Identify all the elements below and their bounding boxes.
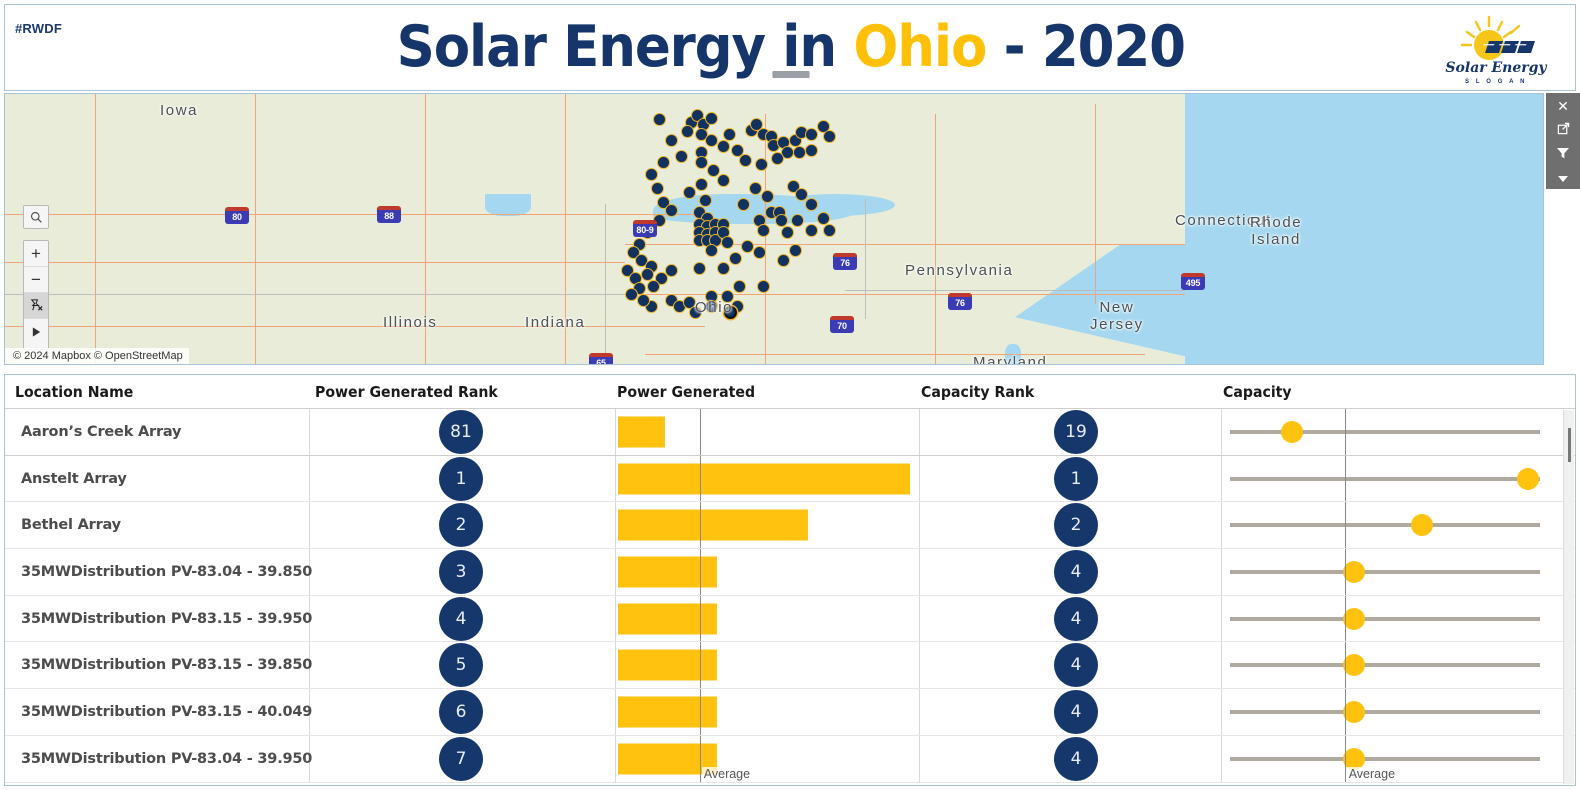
map-marker-dot[interactable] <box>753 246 766 259</box>
map-marker-dot[interactable] <box>657 156 670 169</box>
power-generated-average-line <box>700 596 702 642</box>
column-divider <box>615 502 616 548</box>
table-row[interactable]: 35MWDistribution PV-83.15 - 39.95044 <box>5 596 1575 643</box>
map-state-label: Ohio <box>695 299 733 316</box>
cell-location-name: 35MWDistribution PV-83.15 - 39.950 <box>21 611 312 627</box>
map-marker-dot[interactable] <box>805 198 818 211</box>
map-marker-dot[interactable] <box>771 152 784 165</box>
power-generated-average-line <box>700 456 702 502</box>
data-table[interactable]: Location NamePower Generated RankPower G… <box>4 374 1576 786</box>
cell-capacity-dot <box>1343 608 1365 630</box>
capacity-average-line <box>1345 502 1347 548</box>
road <box>1095 104 1096 304</box>
logo-name: Solar Energy <box>1431 60 1561 76</box>
map-marker-dot[interactable] <box>665 134 678 147</box>
map-marker-dot[interactable] <box>651 182 664 195</box>
road <box>5 326 705 327</box>
highway-shield: 80-9 <box>633 220 657 237</box>
map-state-label: RhodeIsland <box>1250 214 1302 248</box>
capacity-track-line <box>1230 663 1540 667</box>
table-row[interactable]: Anstelt Array11 <box>5 456 1575 503</box>
capacity-average-line <box>1345 456 1347 502</box>
cell-capacity-rank: 4 <box>1054 737 1098 781</box>
road <box>935 114 936 364</box>
lake-erie-east <box>775 194 895 216</box>
cell-power-generated-rank: 7 <box>439 737 483 781</box>
column-divider <box>615 456 616 502</box>
cell-power-generated-bar <box>618 603 717 634</box>
map-zoom-controls[interactable]: + − <box>23 240 49 350</box>
road <box>645 354 1145 355</box>
capacity-track-line <box>1230 757 1540 761</box>
column-header-capacity_rank[interactable]: Capacity Rank <box>921 383 1034 401</box>
map-marker-dot[interactable] <box>665 204 678 217</box>
map-state-label: NewJersey <box>1090 299 1144 333</box>
power-generated-average-line <box>700 502 702 548</box>
cell-power-generated-bar <box>618 510 808 541</box>
map-marker-dot[interactable] <box>665 264 678 277</box>
map-marker-dot[interactable] <box>683 186 696 199</box>
capacity-track-line <box>1230 477 1540 481</box>
map-search-icon[interactable] <box>23 205 49 229</box>
column-divider <box>309 409 310 455</box>
title-drag-handle[interactable] <box>772 71 809 78</box>
column-divider <box>615 409 616 455</box>
page-title: Solar Energy in Ohio - 2020 <box>5 5 1577 90</box>
title-highlight: Ohio <box>854 14 987 80</box>
capacity-average-line <box>1345 642 1347 688</box>
caret-down-icon[interactable] <box>1557 171 1569 185</box>
column-divider <box>919 736 920 782</box>
column-divider <box>1221 502 1222 548</box>
cell-location-name: 35MWDistribution PV-83.04 - 39.850 <box>21 564 312 580</box>
cell-capacity-dot <box>1411 514 1433 536</box>
map-marker-dot[interactable] <box>739 154 752 167</box>
column-divider <box>919 409 920 455</box>
zoom-out-button[interactable]: − <box>24 267 48 293</box>
cell-capacity-rank: 19 <box>1054 410 1098 454</box>
map-marker-dot[interactable] <box>805 144 818 157</box>
map-marker-dot[interactable] <box>737 198 750 211</box>
column-divider <box>615 596 616 642</box>
map-marker-dot[interactable] <box>705 112 718 125</box>
map-marker-dot[interactable] <box>749 182 762 195</box>
map-marker-dot[interactable] <box>705 244 718 257</box>
cell-power-generated-bar <box>618 650 717 681</box>
map-marker-dot[interactable] <box>681 125 694 138</box>
map-marker-dot[interactable] <box>789 244 802 257</box>
map-marker-dot[interactable] <box>717 140 730 153</box>
map-marker-dot[interactable] <box>793 146 806 159</box>
column-divider <box>615 642 616 688</box>
solar-energy-logo: Solar Energy S L O G A N <box>1431 13 1561 85</box>
cell-power-generated-bar <box>618 556 717 587</box>
table-header-row: Location NamePower Generated RankPower G… <box>5 375 1575 409</box>
table-row[interactable]: 35MWDistribution PV-83.15 - 39.85054 <box>5 642 1575 689</box>
cell-location-name: Bethel Array <box>21 517 121 533</box>
column-divider <box>919 596 920 642</box>
lake-michigan <box>485 194 531 216</box>
table-vertical-scrollbar[interactable] <box>1563 410 1574 784</box>
map-marker-dot[interactable] <box>777 254 790 267</box>
cell-power-generated-bar <box>618 416 665 447</box>
cell-power-generated-rank: 1 <box>439 457 483 501</box>
map-state-label: Pennsylvania <box>905 262 1013 279</box>
funnel-icon[interactable] <box>1556 146 1570 162</box>
map-marker-dot[interactable] <box>695 156 708 169</box>
column-header-capacity[interactable]: Capacity <box>1223 383 1292 401</box>
map-marker-dot[interactable] <box>757 224 770 237</box>
highway-shield: 76 <box>833 253 857 270</box>
cell-capacity-rank: 4 <box>1054 597 1098 641</box>
table-row[interactable]: Bethel Array22 <box>5 502 1575 549</box>
capacity-track-line <box>1230 710 1540 714</box>
capacity-track-line <box>1230 570 1540 574</box>
column-divider <box>919 689 920 735</box>
map-marker-dot[interactable] <box>717 174 730 187</box>
cell-capacity-dot <box>1517 468 1539 490</box>
column-divider <box>615 736 616 782</box>
map-marker-dot[interactable] <box>723 128 736 141</box>
map-marker-dot[interactable] <box>699 194 712 207</box>
column-divider <box>1221 642 1222 688</box>
map-marker-dot[interactable] <box>761 190 774 203</box>
cell-power-generated-rank: 3 <box>439 550 483 594</box>
logo-slogan: S L O G A N <box>1431 79 1561 85</box>
column-divider <box>309 502 310 548</box>
highway-shield: 70 <box>830 316 854 333</box>
cell-capacity-dot <box>1343 701 1365 723</box>
state-border <box>605 204 606 365</box>
highway-shield: 495 <box>1181 273 1205 290</box>
map-state-label: Iowa <box>160 102 198 119</box>
table-row[interactable]: 35MWDistribution PV-83.15 - 40.04964 <box>5 689 1575 736</box>
highway-shield: 65 <box>589 353 613 365</box>
road <box>765 114 766 364</box>
map-marker-dot[interactable] <box>637 294 650 307</box>
state-border <box>5 294 645 295</box>
highway-shield: 80 <box>225 207 249 224</box>
column-divider <box>919 456 920 502</box>
map-marker-dot[interactable] <box>757 280 770 293</box>
average-label: Average <box>702 767 750 781</box>
map-marker-dot[interactable] <box>755 158 768 171</box>
column-divider <box>1221 736 1222 782</box>
column-divider <box>1221 456 1222 502</box>
cell-capacity-dot <box>1343 654 1365 676</box>
average-label: Average <box>1347 767 1395 781</box>
map-marker-dot[interactable] <box>823 224 836 237</box>
column-divider <box>309 456 310 502</box>
map-marker-dot[interactable] <box>805 224 818 237</box>
column-header-power_generated[interactable]: Power Generated <box>617 383 755 401</box>
cell-capacity-dot <box>1343 561 1365 583</box>
map-panel[interactable]: IowaIllinoisIndianaMissouriOhioPennsylva… <box>4 93 1544 365</box>
map-marker-dot[interactable] <box>675 150 688 163</box>
close-icon[interactable]: ✕ <box>1557 99 1569 113</box>
search-icon <box>30 211 43 224</box>
column-divider <box>615 689 616 735</box>
capacity-average-line <box>1345 549 1347 595</box>
map-marker-dot[interactable] <box>729 252 742 265</box>
column-divider <box>615 549 616 595</box>
cell-capacity-rank: 2 <box>1054 503 1098 547</box>
highway-shield: 88 <box>377 206 401 223</box>
map-marker-dot[interactable] <box>805 128 818 141</box>
power-generated-average-line <box>700 642 702 688</box>
map-marker-dot[interactable] <box>645 168 658 181</box>
column-header-power_generated_rank[interactable]: Power Generated Rank <box>315 383 498 401</box>
dashboard-root: #RWDF Solar Energy in Ohio - 2020 <box>0 0 1580 790</box>
capacity-track-line <box>1230 617 1540 621</box>
map-marker-dot[interactable] <box>823 130 836 143</box>
column-divider <box>1221 689 1222 735</box>
cell-location-name: 35MWDistribution PV-83.04 - 39.950 <box>21 751 312 767</box>
capacity-average-line <box>1345 689 1347 735</box>
map-marker-dot[interactable] <box>733 280 746 293</box>
map-attribution: © 2024 Mapbox © OpenStreetMap <box>5 348 189 364</box>
power-generated-average-line <box>700 409 702 455</box>
column-divider <box>1221 409 1222 455</box>
cell-power-generated-rank: 4 <box>439 597 483 641</box>
map-marker-dot[interactable] <box>717 262 730 275</box>
power-generated-average-line <box>700 689 702 735</box>
scrollbar-thumb[interactable] <box>1568 428 1571 462</box>
cell-power-generated-rank: 6 <box>439 690 483 734</box>
title-part-2: - 2020 <box>986 14 1185 80</box>
cell-location-name: 35MWDistribution PV-83.15 - 39.850 <box>21 657 312 673</box>
map-marker-dot[interactable] <box>695 178 708 191</box>
cell-power-generated-bar <box>618 696 717 727</box>
column-divider <box>919 642 920 688</box>
cell-capacity-rank: 1 <box>1054 457 1098 501</box>
cell-capacity-rank: 4 <box>1054 643 1098 687</box>
column-divider <box>919 502 920 548</box>
clear-pins-icon[interactable] <box>24 293 48 319</box>
map-marker-dot[interactable] <box>791 214 804 227</box>
column-divider <box>1221 549 1222 595</box>
state-border <box>845 290 1185 291</box>
capacity-track-line <box>1230 430 1540 434</box>
road <box>255 94 256 365</box>
dashboard-header: #RWDF Solar Energy in Ohio - 2020 <box>4 4 1576 91</box>
cell-capacity-rank: 4 <box>1054 550 1098 594</box>
map-play-button[interactable] <box>24 319 48 345</box>
cell-power-generated-rank: 81 <box>439 410 483 454</box>
map-state-label: Maryland <box>973 354 1048 365</box>
column-header-location_name[interactable]: Location Name <box>15 383 133 401</box>
table-row[interactable]: Aaron’s Creek Array8119 <box>5 409 1575 456</box>
power-generated-average-line <box>700 549 702 595</box>
map-state-label: Indiana <box>525 314 585 331</box>
pin-x-icon <box>29 298 44 313</box>
capacity-average-line <box>1345 596 1347 642</box>
play-icon <box>31 326 42 338</box>
highway-shield: 76 <box>948 293 972 310</box>
cell-location-name: 35MWDistribution PV-83.15 - 40.049 <box>21 704 312 720</box>
external-link-icon[interactable] <box>1557 122 1570 137</box>
map-marker-dot[interactable] <box>781 226 794 239</box>
capacity-average-line <box>1345 409 1347 455</box>
road <box>95 94 96 365</box>
map-marker-dot[interactable] <box>693 262 706 275</box>
column-divider <box>1221 596 1222 642</box>
map-marker-dot[interactable] <box>750 118 763 131</box>
table-row[interactable]: 35MWDistribution PV-83.04 - 39.85034 <box>5 549 1575 596</box>
cell-power-generated-rank: 2 <box>439 503 483 547</box>
cell-power-generated-rank: 5 <box>439 643 483 687</box>
cell-power-generated-bar <box>618 463 910 494</box>
panel-toolbar[interactable]: ✕ <box>1546 93 1580 189</box>
table-body[interactable]: Aaron’s Creek Array8119Anstelt Array11Be… <box>5 409 1575 783</box>
table-row[interactable]: 35MWDistribution PV-83.04 - 39.95074Aver… <box>5 736 1575 783</box>
cell-location-name: Aaron’s Creek Array <box>21 424 181 440</box>
capacity-track-line <box>1230 523 1540 527</box>
map-marker-dot[interactable] <box>721 236 734 249</box>
column-divider <box>919 549 920 595</box>
state-border <box>865 199 866 319</box>
cell-capacity-rank: 4 <box>1054 690 1098 734</box>
zoom-in-button[interactable]: + <box>24 241 48 267</box>
map-state-label: Illinois <box>383 314 437 331</box>
cell-location-name: Anstelt Array <box>21 471 127 487</box>
map-marker-dot[interactable] <box>653 113 666 126</box>
road <box>5 214 705 215</box>
cell-capacity-dot <box>1281 421 1303 443</box>
road <box>5 262 625 263</box>
map-marker-dot[interactable] <box>647 280 660 293</box>
